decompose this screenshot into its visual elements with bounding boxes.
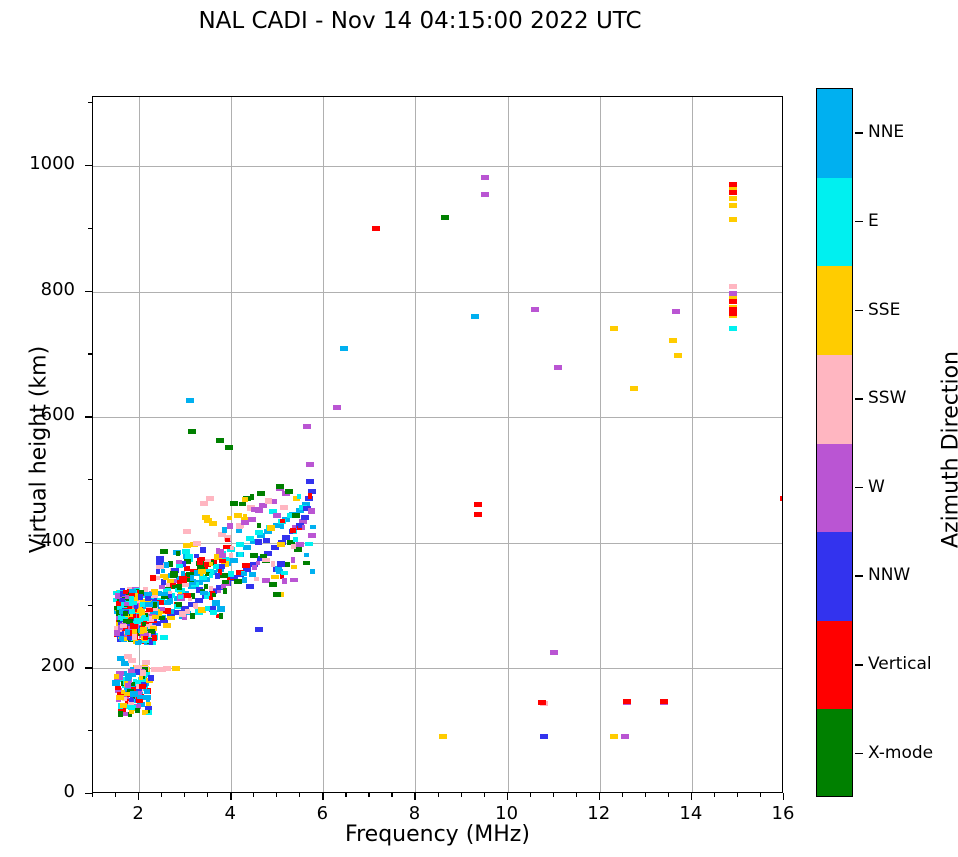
data-point — [139, 684, 146, 689]
x-axis-minor-tick — [253, 793, 254, 797]
data-point — [219, 559, 226, 563]
colorbar-label-nnw: NNW — [868, 565, 910, 585]
data-point — [161, 569, 165, 573]
data-point — [183, 529, 191, 534]
data-point — [186, 398, 194, 403]
x-axis-minor-tick — [760, 793, 761, 797]
colorbar-segment-e[interactable] — [817, 178, 852, 267]
x-axis-minor-tick — [92, 793, 93, 797]
x-axis-tick-label: 12 — [569, 803, 629, 824]
x-axis-tick — [507, 793, 508, 800]
colorbar-label-vertical: Vertical — [868, 654, 932, 674]
data-point — [269, 582, 277, 587]
data-point — [123, 590, 128, 594]
data-point — [198, 569, 206, 574]
x-axis-minor-tick — [345, 793, 346, 797]
colorbar-tick — [855, 132, 863, 134]
colorbar-label-ssw: SSW — [868, 388, 906, 408]
data-point — [297, 494, 301, 499]
data-point — [630, 386, 638, 391]
y-axis-tick — [85, 291, 92, 292]
data-point — [160, 607, 165, 611]
data-point — [161, 592, 168, 596]
x-axis-minor-tick — [737, 793, 738, 797]
data-point — [243, 545, 251, 550]
data-point — [282, 578, 287, 584]
data-point — [170, 571, 178, 577]
data-point — [148, 675, 154, 681]
colorbar-title: Azimuth Direction — [939, 280, 958, 620]
x-axis-minor-tick — [668, 793, 669, 797]
data-point — [127, 673, 132, 679]
data-point — [140, 602, 145, 607]
data-point — [243, 514, 247, 518]
data-point — [308, 533, 316, 538]
x-axis-minor-tick — [391, 793, 392, 797]
data-point — [114, 630, 120, 636]
y-axis-tick — [85, 542, 92, 543]
data-point — [204, 595, 209, 599]
x-axis-tick — [230, 793, 231, 800]
data-point — [163, 623, 171, 628]
data-point — [212, 600, 220, 606]
data-point — [150, 575, 156, 581]
data-point — [212, 593, 216, 597]
data-point — [729, 217, 737, 222]
data-point — [156, 569, 160, 574]
data-point — [474, 502, 482, 507]
data-point — [610, 734, 618, 739]
colorbar-tick — [855, 753, 863, 755]
data-point — [160, 635, 168, 640]
colorbar-segment-x-mode[interactable] — [817, 709, 852, 797]
data-point — [303, 561, 310, 565]
gridline-horizontal — [93, 166, 782, 167]
data-point — [481, 175, 489, 180]
data-point — [260, 554, 267, 558]
data-point — [129, 609, 135, 614]
y-axis-tick — [85, 165, 92, 166]
y-axis-minor-tick — [88, 730, 92, 731]
data-point — [140, 627, 147, 633]
data-point — [165, 610, 171, 614]
colorbar-tick — [855, 664, 863, 666]
data-point — [621, 734, 629, 739]
data-point — [267, 525, 275, 531]
colorbar-segment-w[interactable] — [817, 444, 852, 533]
y-axis-minor-tick — [88, 605, 92, 606]
data-point — [298, 524, 302, 528]
data-point — [246, 536, 254, 541]
data-point — [729, 190, 737, 195]
y-axis-tick-label: 0 — [5, 781, 75, 802]
data-point — [217, 549, 224, 554]
x-axis-tick-label: 6 — [292, 803, 352, 824]
data-point — [225, 538, 230, 542]
data-point — [176, 602, 182, 607]
gridline-vertical — [600, 97, 601, 792]
data-point — [227, 523, 233, 529]
gridline-vertical — [415, 97, 416, 792]
data-point — [209, 562, 213, 566]
x-axis-minor-tick — [553, 793, 554, 797]
data-point — [729, 196, 737, 201]
colorbar-tick — [855, 398, 863, 400]
data-point — [230, 546, 234, 550]
data-point — [123, 611, 128, 616]
data-point — [251, 507, 259, 512]
data-point — [273, 513, 281, 518]
x-axis-minor-tick — [299, 793, 300, 797]
data-point — [137, 695, 144, 699]
data-point — [115, 593, 120, 599]
data-point — [159, 616, 165, 620]
data-point — [308, 508, 315, 514]
data-point — [255, 530, 263, 535]
x-axis-minor-tick — [484, 793, 485, 797]
x-axis-tick — [599, 793, 600, 800]
data-point — [303, 424, 311, 429]
data-point — [669, 338, 677, 343]
data-point — [291, 557, 295, 563]
data-point — [252, 565, 257, 570]
data-point — [159, 585, 165, 589]
x-axis-tick-label: 16 — [753, 803, 813, 824]
data-point — [271, 575, 279, 579]
data-point — [163, 666, 171, 671]
x-axis-minor-tick — [530, 793, 531, 797]
x-axis-label: Frequency (MHz) — [92, 822, 783, 847]
data-point — [554, 365, 562, 370]
data-point — [116, 695, 124, 700]
data-point — [118, 711, 123, 717]
data-point — [145, 596, 151, 601]
data-point — [125, 683, 131, 688]
x-axis-tick-label: 14 — [661, 803, 721, 824]
data-point — [168, 594, 172, 598]
y-axis-tick-label: 1000 — [5, 153, 75, 174]
data-point — [471, 314, 479, 319]
x-axis-tick — [322, 793, 323, 800]
data-point — [729, 311, 737, 316]
data-point — [729, 203, 737, 208]
data-point — [241, 520, 249, 525]
x-axis-minor-tick — [438, 793, 439, 797]
data-point — [236, 525, 243, 529]
data-point — [222, 527, 227, 533]
data-point — [128, 658, 136, 663]
data-point — [227, 516, 232, 520]
gridline-vertical — [508, 97, 509, 792]
data-point — [242, 563, 250, 568]
x-axis-tick-label: 8 — [384, 803, 444, 824]
data-point — [340, 346, 348, 351]
data-point — [124, 602, 129, 606]
data-point — [228, 571, 234, 577]
data-point — [182, 583, 189, 587]
data-point — [255, 539, 262, 545]
data-point — [217, 606, 225, 612]
data-point — [729, 326, 737, 331]
colorbar-tick — [855, 575, 863, 577]
data-point — [281, 571, 288, 575]
data-point — [178, 595, 183, 599]
data-point — [439, 734, 447, 739]
colorbar-tick — [855, 487, 863, 489]
y-axis-tick — [85, 416, 92, 417]
x-axis-minor-tick — [368, 793, 369, 797]
data-point — [304, 553, 309, 557]
colorbar-segment-vertical[interactable] — [817, 621, 852, 710]
data-point — [177, 584, 182, 590]
data-point — [550, 650, 558, 655]
data-point — [305, 542, 313, 546]
data-point — [129, 698, 134, 702]
data-point — [474, 512, 482, 517]
ionogram-figure: NAL CADI - Nov 14 04:15:00 2022 UTC 2468… — [0, 0, 958, 857]
data-point — [623, 699, 631, 704]
colorbar-segment-nnw[interactable] — [817, 532, 852, 621]
data-point — [184, 566, 190, 571]
data-point — [538, 700, 546, 705]
x-axis-tick — [414, 793, 415, 800]
data-point — [129, 596, 134, 601]
data-point — [301, 515, 309, 520]
data-point — [152, 635, 157, 641]
x-axis-minor-tick — [622, 793, 623, 797]
gridline-vertical — [323, 97, 324, 792]
data-point — [610, 326, 618, 331]
x-axis-tick-label: 10 — [477, 803, 537, 824]
data-point — [293, 537, 298, 542]
data-point — [210, 610, 217, 615]
y-axis-label: Virtual height (km) — [27, 250, 52, 650]
data-point — [531, 307, 539, 312]
data-point — [242, 497, 248, 502]
data-point — [276, 484, 284, 489]
data-point — [257, 491, 265, 496]
data-point — [729, 291, 737, 296]
y-axis-tick — [85, 667, 92, 668]
plot-canvas — [92, 96, 783, 793]
data-point — [183, 543, 191, 548]
data-point — [222, 580, 229, 584]
data-point — [672, 309, 680, 314]
data-point — [209, 586, 213, 591]
data-point — [200, 591, 208, 595]
gridline-horizontal — [93, 292, 782, 293]
data-point — [143, 636, 148, 640]
data-point — [280, 524, 284, 529]
y-axis-minor-tick — [88, 228, 92, 229]
colorbar-label-e: E — [868, 211, 879, 231]
data-point — [188, 429, 196, 434]
data-point — [143, 710, 148, 714]
data-point — [306, 462, 314, 467]
gridline-vertical — [692, 97, 693, 792]
data-point — [660, 699, 668, 704]
data-point — [190, 613, 195, 619]
data-point — [250, 553, 258, 558]
data-point — [241, 572, 247, 576]
data-point — [166, 583, 170, 587]
data-point — [250, 494, 254, 500]
data-point — [282, 535, 290, 540]
data-point — [215, 573, 220, 579]
data-point — [200, 547, 206, 553]
colorbar-segment-nne[interactable] — [817, 89, 852, 178]
x-axis-minor-tick — [184, 793, 185, 797]
x-axis-minor-tick — [576, 793, 577, 797]
data-point — [290, 578, 298, 582]
x-axis-tick — [783, 793, 784, 800]
data-point — [160, 549, 168, 554]
data-point — [780, 496, 783, 501]
data-point — [142, 622, 146, 626]
data-point — [135, 708, 140, 713]
data-point — [125, 629, 130, 635]
colorbar-tick — [855, 221, 863, 223]
data-point — [172, 666, 180, 671]
data-point — [238, 552, 243, 557]
x-axis-minor-tick — [714, 793, 715, 797]
gridline-horizontal — [93, 668, 782, 669]
data-point — [255, 627, 263, 632]
data-point — [306, 479, 314, 484]
data-point — [263, 538, 270, 543]
data-point — [130, 624, 138, 629]
data-point — [190, 575, 194, 581]
data-point — [273, 592, 281, 597]
data-point — [194, 554, 199, 558]
data-point — [540, 734, 548, 739]
data-point — [248, 517, 256, 522]
data-point — [310, 569, 315, 574]
data-point — [200, 501, 208, 506]
data-point — [209, 573, 213, 578]
data-point — [271, 561, 275, 567]
data-point — [167, 616, 175, 620]
x-axis-tick — [691, 793, 692, 800]
data-point — [372, 226, 380, 231]
data-point — [277, 542, 285, 547]
data-point — [185, 554, 193, 559]
data-point — [280, 519, 285, 523]
data-point — [152, 615, 159, 619]
colorbar-label-nne: NNE — [868, 122, 904, 142]
data-point — [129, 589, 136, 593]
data-point — [246, 584, 254, 589]
data-point — [674, 353, 682, 358]
data-point — [156, 560, 163, 565]
data-point — [138, 594, 143, 600]
data-point — [291, 544, 296, 549]
data-point — [225, 445, 233, 450]
data-point — [729, 299, 737, 304]
data-point — [206, 496, 214, 501]
y-axis-tick — [85, 793, 92, 794]
data-point — [229, 553, 233, 558]
data-point — [239, 502, 246, 506]
gridline-horizontal — [93, 417, 782, 418]
data-point — [230, 558, 238, 563]
data-point — [140, 670, 146, 676]
data-point — [257, 523, 261, 528]
data-point — [242, 577, 247, 583]
data-point — [142, 615, 146, 620]
data-point — [197, 561, 203, 565]
data-point — [310, 525, 316, 529]
x-axis-minor-tick — [461, 793, 462, 797]
data-point — [236, 542, 244, 547]
y-axis-minor-tick — [88, 353, 92, 354]
data-point — [146, 608, 153, 612]
data-point — [120, 703, 127, 708]
data-point — [112, 680, 120, 686]
data-point — [441, 215, 449, 220]
colorbar-segment-ssw[interactable] — [817, 355, 852, 444]
data-point — [254, 577, 259, 581]
colorbar[interactable] — [816, 88, 853, 797]
data-point — [333, 405, 341, 410]
data-point — [176, 564, 183, 568]
data-point — [148, 629, 153, 633]
colorbar-label-x-mode: X-mode — [868, 743, 933, 763]
data-point — [145, 602, 153, 607]
data-point — [265, 498, 272, 504]
colorbar-segment-sse[interactable] — [817, 266, 852, 355]
data-point — [114, 674, 119, 679]
data-point — [223, 588, 227, 594]
data-point — [120, 624, 127, 628]
x-axis-minor-tick — [645, 793, 646, 797]
data-point — [138, 640, 142, 644]
data-point — [176, 551, 180, 556]
x-axis-minor-tick — [207, 793, 208, 797]
data-point — [234, 579, 242, 584]
data-point — [144, 689, 150, 694]
data-point — [193, 603, 198, 608]
y-axis-minor-tick — [88, 479, 92, 480]
y-axis-minor-tick — [88, 102, 92, 103]
data-point — [142, 660, 150, 665]
colorbar-label-w: W — [868, 477, 885, 497]
data-point — [729, 284, 737, 289]
data-point — [277, 561, 285, 567]
data-point — [134, 618, 141, 624]
x-axis-tick — [138, 793, 139, 800]
data-point — [290, 528, 296, 533]
data-point — [308, 493, 312, 499]
data-point — [193, 541, 201, 546]
data-point — [291, 565, 297, 569]
data-point — [292, 513, 300, 518]
colorbar-tick — [855, 310, 863, 312]
data-point — [256, 561, 260, 565]
x-axis-tick-label: 4 — [200, 803, 260, 824]
x-axis-minor-tick — [276, 793, 277, 797]
x-axis-tick-label: 2 — [108, 803, 168, 824]
colorbar-label-sse: SSE — [868, 300, 900, 320]
data-point — [179, 576, 187, 581]
x-axis-minor-tick — [161, 793, 162, 797]
data-point — [216, 438, 224, 443]
data-point — [285, 489, 293, 494]
data-point — [729, 182, 737, 187]
data-point — [185, 609, 190, 614]
data-point — [132, 634, 137, 640]
data-point — [280, 505, 288, 510]
